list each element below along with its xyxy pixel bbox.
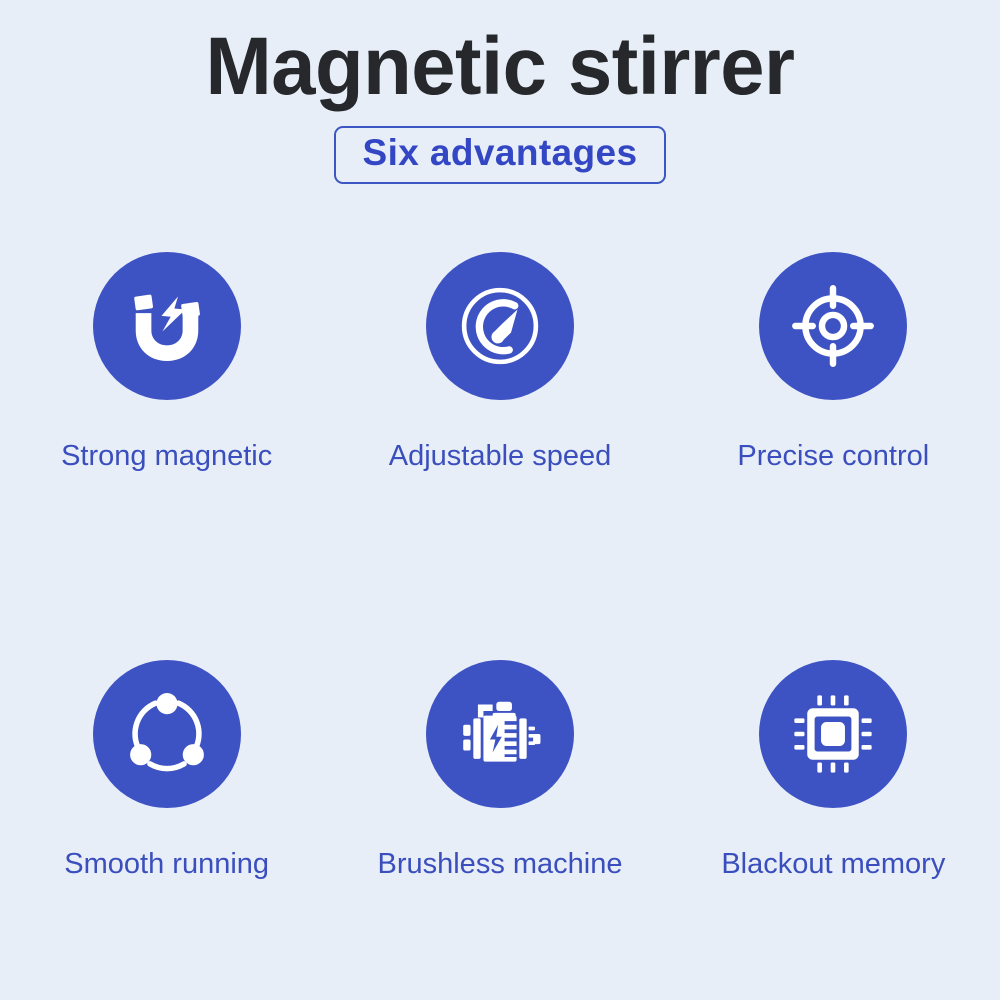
header: Magnetic stirrer Six advantages xyxy=(0,0,1000,184)
advantage-item-precise-control: Precise control xyxy=(667,252,1000,502)
cpu-chip-icon xyxy=(787,688,879,780)
advantages-grid: Strong magnetic Adjustable speed xyxy=(0,252,1000,910)
advantage-label: Adjustable speed xyxy=(389,440,612,473)
advantage-icon-badge xyxy=(426,252,574,400)
advantage-label: Brushless machine xyxy=(377,848,622,881)
magnet-icon xyxy=(121,280,213,372)
advantages-infographic: Magnetic stirrer Six advantages xyxy=(0,0,1000,1000)
electric-motor-icon xyxy=(454,688,546,780)
advantage-item-smooth-running: Smooth running xyxy=(0,660,333,910)
advantage-icon-badge xyxy=(759,252,907,400)
advantage-item-adjustable-speed: Adjustable speed xyxy=(333,252,666,502)
advantage-item-brushless-machine: Brushless machine xyxy=(333,660,666,910)
advantage-item-strong-magnetic: Strong magnetic xyxy=(0,252,333,502)
advantage-icon-badge xyxy=(93,660,241,808)
three-dot-ring-icon xyxy=(121,688,213,780)
advantage-label: Strong magnetic xyxy=(61,440,272,473)
advantage-label: Precise control xyxy=(737,440,929,473)
advantage-icon-badge xyxy=(426,660,574,808)
advantage-label: Blackout memory xyxy=(721,848,945,881)
subtitle-text: Six advantages xyxy=(362,132,637,173)
advantage-label: Smooth running xyxy=(64,848,269,881)
advantage-icon-badge xyxy=(759,660,907,808)
subtitle-badge: Six advantages xyxy=(334,126,665,184)
advantage-icon-badge xyxy=(93,252,241,400)
crosshair-target-icon xyxy=(787,280,879,372)
advantage-item-blackout-memory: Blackout memory xyxy=(667,660,1000,910)
speedometer-icon xyxy=(454,280,546,372)
page-title: Magnetic stirrer xyxy=(15,0,985,108)
subtitle-container: Six advantages xyxy=(0,126,1000,184)
